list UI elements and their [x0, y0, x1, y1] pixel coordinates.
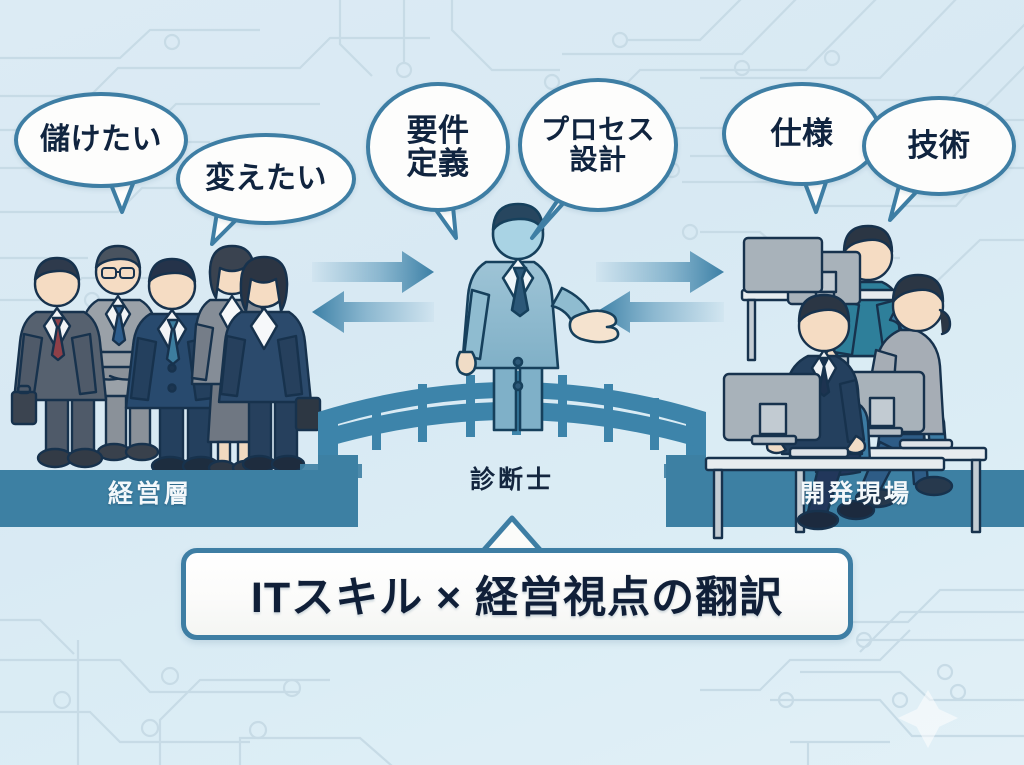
- arrow-right-development: [596, 251, 724, 293]
- arrows-left-pair: [312, 251, 434, 333]
- executive-grey: [76, 246, 162, 460]
- bubble-shiyou-line-1: 仕様: [771, 117, 834, 150]
- bubble-youken-line-2: 定義: [407, 147, 470, 180]
- bubble-kaetai: 変えたい: [176, 133, 356, 225]
- monitor-front-left: [724, 374, 820, 444]
- keyboard-icon: [900, 440, 952, 448]
- summary-banner-text: ITスキル × 経営視点の翻訳: [251, 563, 783, 625]
- desk-back: [742, 290, 924, 360]
- bubble-shiyou: 仕様: [722, 82, 882, 186]
- bubble-gijutsu: 技術: [862, 96, 1016, 196]
- banner-pointer: [482, 518, 542, 552]
- monitor-back: [788, 252, 860, 304]
- arrow-left-development: [596, 291, 724, 333]
- executives-group: [12, 246, 320, 475]
- bubble-process-line-1: プロセス: [541, 115, 655, 145]
- executive-center: [126, 259, 224, 475]
- bubble-kaetai-line-1: 変えたい: [205, 163, 327, 195]
- developer-back: [825, 226, 914, 406]
- bubble-moukaru-line-1: 儲けたい: [40, 124, 162, 156]
- bubble-youken: 要件 定義: [366, 82, 510, 212]
- bubble-process: プロセス 設計: [518, 78, 678, 212]
- monitor-back-left: [744, 238, 822, 292]
- sparkle-diamond-icon: [898, 690, 958, 748]
- bubble-moukaru: 儲けたい: [14, 92, 188, 188]
- bridge-icon: [318, 371, 706, 527]
- bubble-gijutsu-line-1: 技術: [908, 129, 971, 162]
- bubble-youken-line-1: 要件: [407, 114, 470, 147]
- executive-woman-folder: [192, 246, 272, 475]
- arrows-right-pair: [596, 251, 724, 333]
- summary-banner: ITスキル × 経営視点の翻訳: [181, 548, 853, 640]
- executive-woman-right: [219, 257, 320, 472]
- executive-left: [12, 258, 106, 467]
- consultant-figure: [457, 204, 618, 430]
- arrow-right-management: [312, 251, 434, 293]
- monitor-front-right: [838, 372, 924, 436]
- keyboard-icon-2: [790, 448, 848, 457]
- infographic-canvas: 儲けたい 変えたい 要件 定義 プロセス 設計 仕様 技術 経営層 診断士 開発…: [0, 0, 1024, 765]
- arrow-left-management: [312, 291, 434, 333]
- label-development-site: 開発現場: [800, 474, 912, 510]
- bubble-process-line-2: 設計: [541, 145, 655, 175]
